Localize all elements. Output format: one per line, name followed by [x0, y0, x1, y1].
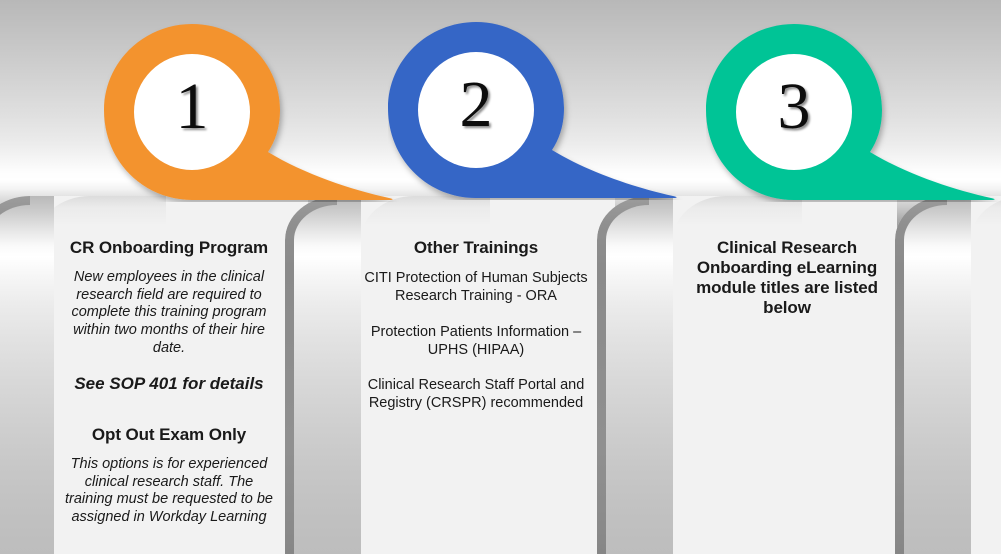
panel-bevel-edge-1: [0, 196, 30, 554]
panel-heading-3: Clinical Research Onboarding eLearning m…: [684, 238, 890, 318]
panel-content-2: Other Trainings CITI Protection of Human…: [362, 238, 590, 413]
panel-face-4: [970, 196, 1001, 554]
panel-paragraph-2-2: Protection Patients Information – UPHS (…: [362, 323, 590, 360]
slide-canvas: CR Onboarding Program New employees in t…: [0, 0, 1001, 554]
panel-heading-1: CR Onboarding Program: [60, 238, 278, 258]
panel-paragraph-2-1: CITI Protection of Human Subjects Resear…: [362, 269, 590, 306]
panel-paragraph-2-3: Clinical Research Staff Portal and Regis…: [362, 376, 590, 413]
panel-bevel-edge-2: [285, 196, 337, 554]
panel-content-3: Clinical Research Onboarding eLearning m…: [684, 238, 890, 318]
panel-paragraph-1-4: This options is for experienced clinical…: [60, 456, 278, 527]
step-number-3: 3: [746, 74, 842, 140]
step-number-2: 2: [428, 72, 524, 138]
step-marker-3[interactable]: 3: [706, 22, 1001, 202]
step-marker-2[interactable]: 2: [388, 20, 688, 200]
step-number-1: 1: [144, 74, 240, 140]
panel-heading-2: Other Trainings: [362, 238, 590, 258]
panel-paragraph-1-2: See SOP 401 for details: [60, 374, 278, 394]
step-marker-1[interactable]: 1: [104, 22, 404, 202]
panel-bevel-edge-4: [895, 196, 947, 554]
panel-bevel-edge-3: [597, 196, 649, 554]
panel-overflow-right: [895, 196, 1001, 554]
panel-content-1: CR Onboarding Program New employees in t…: [60, 238, 278, 527]
panel-paragraph-1-1: New employees in the clinical research f…: [60, 269, 278, 357]
panel-paragraph-1-3: Opt Out Exam Only: [60, 425, 278, 445]
